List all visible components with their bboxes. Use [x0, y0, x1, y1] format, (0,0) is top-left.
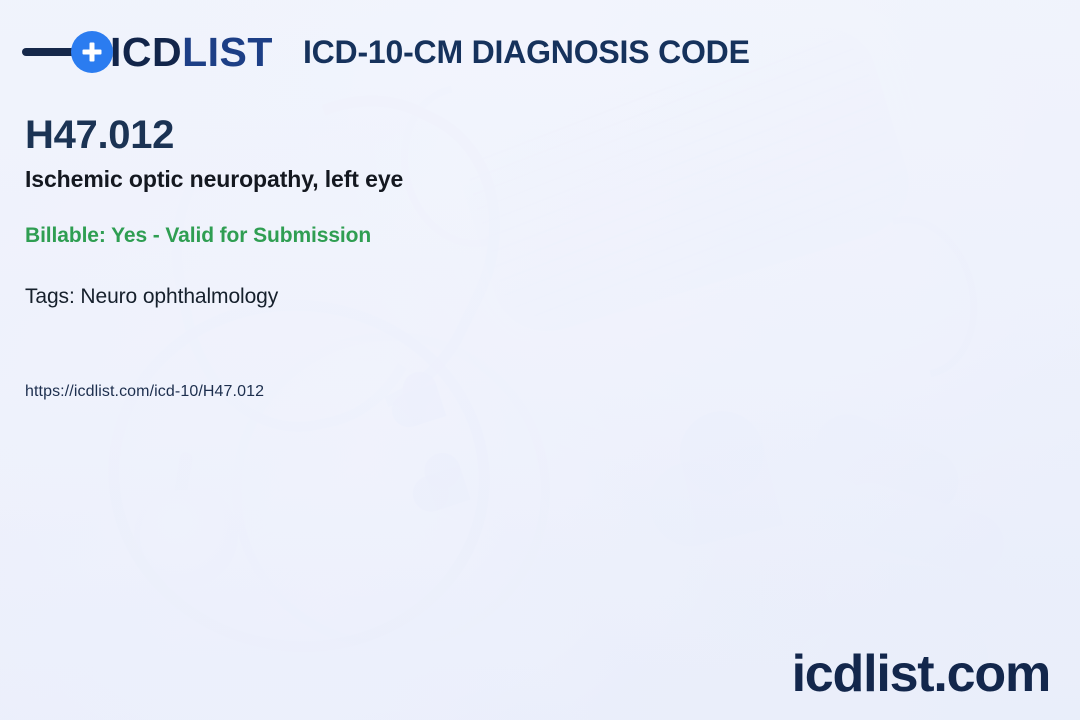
logo-wordmark: ICDLIST — [110, 32, 273, 73]
page-title: ICD-10-CM DIAGNOSIS CODE — [303, 36, 750, 68]
header: ICDLIST ICD-10-CM DIAGNOSIS CODE — [22, 26, 750, 78]
footer-brand: icdlist.com — [792, 648, 1050, 700]
logo-word-icd: ICD — [110, 29, 182, 75]
code-url[interactable]: https://icdlist.com/icd-10/H47.012 — [25, 382, 264, 401]
card-content: ICDLIST ICD-10-CM DIAGNOSIS CODE H47.012… — [0, 0, 1080, 720]
diagnosis-code: H47.012 — [25, 114, 174, 156]
icd-code-card: ICDLIST ICD-10-CM DIAGNOSIS CODE H47.012… — [0, 0, 1080, 720]
icdlist-logo[interactable]: ICDLIST — [22, 26, 273, 78]
medical-plus-icon — [71, 31, 113, 73]
diagnosis-description: Ischemic optic neuropathy, left eye — [25, 166, 403, 194]
tags-line: Tags: Neuro ophthalmology — [25, 284, 278, 309]
logo-word-list: LIST — [182, 29, 273, 75]
billable-status: Billable: Yes - Valid for Submission — [25, 223, 371, 248]
